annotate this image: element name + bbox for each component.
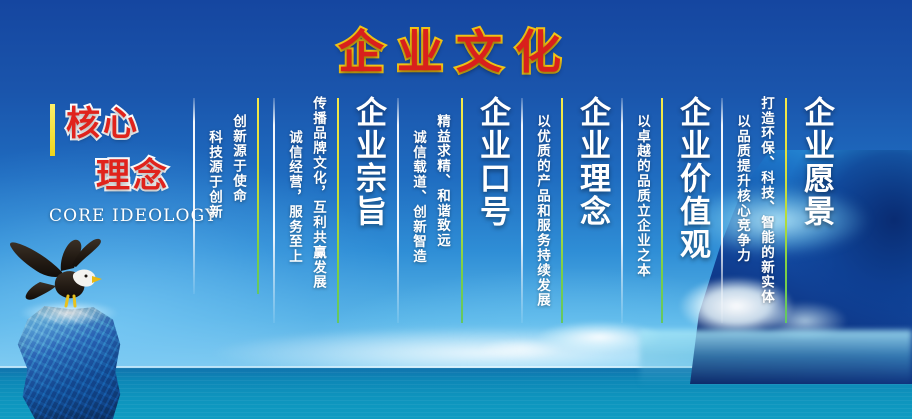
- core-ideology-line2: 理念: [96, 158, 170, 194]
- column-sub: 精益求精、和谐致远: [434, 114, 450, 248]
- core-ideology-line1: 核心: [66, 106, 140, 142]
- column-sub: 以卓越的品质立企业之本: [634, 114, 650, 278]
- column-sub: 诚信载道、创新智造: [410, 130, 426, 264]
- column-divider-lime: [661, 98, 663, 323]
- corporate-culture-poster: 企业文化 核心 理念 CORE IDEOLOGY 企业愿景 打造环保、科技、智能…: [0, 0, 912, 419]
- column-sub: 以品质提升核心竞争力: [734, 114, 750, 263]
- column-divider-lime: [461, 98, 463, 323]
- culture-column-philosophy: 企业理念 以优质的产品和服务持续发展: [514, 92, 614, 332]
- rock-icon: [8, 306, 130, 419]
- culture-column-purpose: 企业宗旨 传播品牌文化，互利共赢发展 诚信经营，服务至上: [266, 92, 390, 332]
- column-divider-lime: [337, 98, 339, 323]
- culture-column-innovation: 创新源于使命 科技源于创新: [186, 92, 266, 332]
- column-divider-white: [621, 98, 623, 323]
- core-ideology-block: 核心 理念 CORE IDEOLOGY: [44, 96, 194, 246]
- page-title: 企业文化: [0, 26, 912, 78]
- culture-column-slogan: 企业口号 精益求精、和谐致远 诚信载道、创新智造: [390, 92, 514, 332]
- column-divider-lime: [257, 98, 259, 294]
- column-heading: 企业价值观: [675, 96, 709, 261]
- column-sub: 打造环保、科技、智能的新实体: [758, 96, 774, 305]
- column-sub: 创新源于使命: [230, 114, 246, 203]
- column-heading: 企业宗旨: [351, 96, 385, 228]
- column-sub: 诚信经营，服务至上: [286, 130, 302, 264]
- column-divider-white: [521, 98, 523, 323]
- culture-column-vision: 企业愿景 打造环保、科技、智能的新实体 以品质提升核心竞争力: [714, 92, 838, 332]
- column-divider-white: [721, 98, 723, 323]
- column-heading: 企业理念: [575, 96, 609, 228]
- column-heading: 企业愿景: [799, 96, 833, 228]
- core-accent-bar: [50, 104, 55, 156]
- column-sub: 科技源于创新: [206, 130, 222, 219]
- column-divider-white: [273, 98, 275, 323]
- culture-column-values: 企业价值观 以卓越的品质立企业之本: [614, 92, 714, 332]
- column-sub: 传播品牌文化，互利共赢发展: [310, 96, 326, 290]
- column-sub: 以优质的产品和服务持续发展: [534, 114, 550, 308]
- column-divider-lime: [561, 98, 563, 323]
- column-divider-lime: [785, 98, 787, 323]
- culture-columns: 企业愿景 打造环保、科技、智能的新实体 以品质提升核心竞争力 企业价值观 以卓越…: [186, 92, 838, 332]
- column-divider-white: [193, 98, 195, 294]
- ocean-wave-base: [640, 330, 912, 386]
- column-divider-white: [397, 98, 399, 323]
- column-heading: 企业口号: [475, 96, 509, 228]
